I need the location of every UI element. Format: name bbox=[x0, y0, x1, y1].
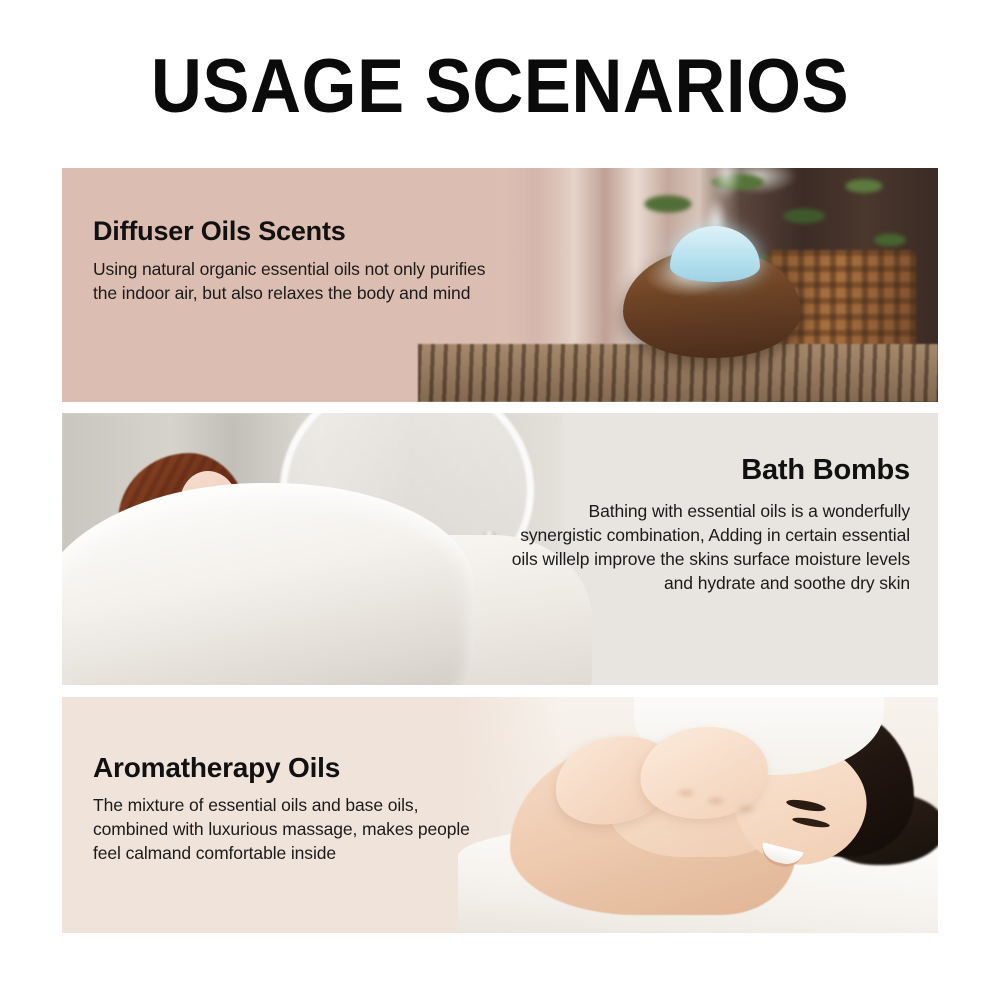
panel-aromatherapy-copy: Aromatherapy Oils The mixture of essenti… bbox=[93, 752, 493, 865]
bathtub-photo bbox=[62, 413, 562, 685]
page-title: USAGE SCENARIOS bbox=[35, 48, 965, 126]
panel-aromatherapy-oils: Aromatherapy Oils The mixture of essenti… bbox=[62, 697, 938, 933]
panel-bath-bombs: Bath Bombs Bathing with essential oils i… bbox=[62, 413, 938, 685]
massage-photo bbox=[458, 697, 938, 933]
usage-scenarios-page: USAGE SCENARIOS Diffuser Oils Scents Usi… bbox=[0, 0, 1000, 1000]
bathtub-near-rim bbox=[62, 483, 474, 685]
panel-bath-bombs-heading: Bath Bombs bbox=[510, 453, 910, 487]
panel-diffuser-oils-scents: Diffuser Oils Scents Using natural organ… bbox=[62, 168, 938, 402]
panel-bath-bombs-body: Bathing with essential oils is a wonderf… bbox=[510, 499, 910, 595]
diffuser-photo bbox=[418, 168, 938, 402]
panel-diffuser-copy: Diffuser Oils Scents Using natural organ… bbox=[93, 216, 493, 305]
panel-diffuser-body: Using natural organic essential oils not… bbox=[93, 257, 493, 305]
panel-aromatherapy-heading: Aromatherapy Oils bbox=[93, 752, 493, 783]
therapist-fingers bbox=[668, 781, 780, 823]
panel-aromatherapy-body: The mixture of essential oils and base o… bbox=[93, 793, 493, 865]
panel-diffuser-heading: Diffuser Oils Scents bbox=[93, 216, 493, 247]
panel-bath-bombs-copy: Bath Bombs Bathing with essential oils i… bbox=[510, 453, 910, 595]
